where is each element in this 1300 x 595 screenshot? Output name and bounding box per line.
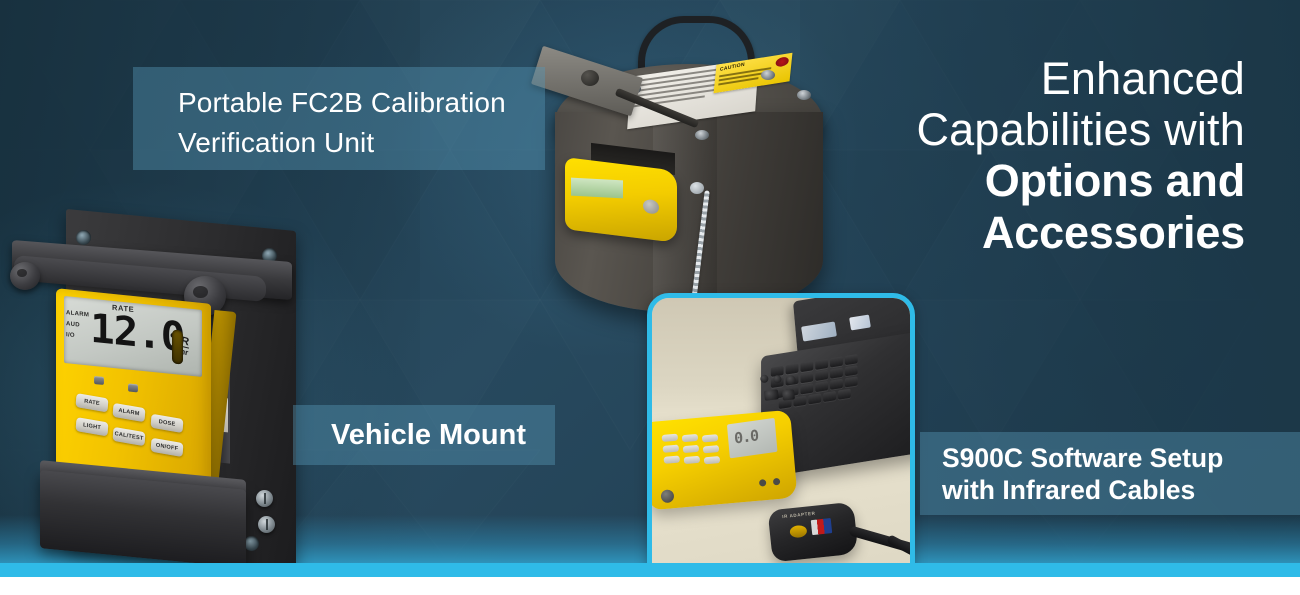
detector-button-dose[interactable]: DOSE <box>151 414 184 433</box>
handheld-detector-keypad <box>662 430 725 469</box>
bottom-white-bar <box>0 577 1300 595</box>
headline-line-4: Accessories <box>685 207 1245 259</box>
detector-led-right <box>128 383 138 392</box>
detector-side-button <box>660 489 674 503</box>
headline-line-2: Capabilities with <box>685 104 1245 155</box>
detector-led-left <box>94 376 104 385</box>
handheld-detector-reading: 0.0 <box>733 426 758 447</box>
headline-line-3: Options and <box>685 155 1245 207</box>
lcd-flag-io: I/O <box>66 330 75 342</box>
headline-line-1: Enhanced <box>685 53 1245 104</box>
caption-s900c: S900C Software Setup with Infrared Cable… <box>920 432 1300 515</box>
adapter-badge <box>789 525 807 539</box>
caption-fc2b-line2: Verification Unit <box>178 123 545 163</box>
banner-stage: RATE ALARM AUD I/O 12.0 µR hr RATE ALARM… <box>0 0 1300 595</box>
fc2b-adjustment-knob <box>581 70 599 86</box>
detector-button-onoff[interactable]: ON/OFF <box>151 438 184 457</box>
caption-vehicle-mount-line1: Vehicle Mount <box>331 417 555 453</box>
fc2b-yellow-dosimeter <box>565 157 677 243</box>
laptop-port-cluster <box>759 365 816 417</box>
detector-ir-port-a <box>759 479 767 487</box>
mount-bolt-lower <box>258 516 275 533</box>
handheld-detector: 0.0 <box>647 410 798 511</box>
mount-bolt-upper <box>256 490 273 507</box>
infrared-adapter-pod: IR ADAPTER <box>768 502 859 563</box>
caption-vehicle-mount: Vehicle Mount <box>293 405 555 465</box>
detector-side-slot <box>172 329 183 364</box>
bottom-accent-bar <box>0 563 1300 577</box>
detector-button-light[interactable]: LIGHT <box>76 417 109 436</box>
mount-hole-top-left <box>76 230 91 245</box>
adapter-logo <box>811 518 832 535</box>
detector-button-caltest[interactable]: CAL/TEST <box>113 427 146 446</box>
banner-headline: Enhanced Capabilities with Options and A… <box>685 53 1245 259</box>
detector-button-rate[interactable]: RATE <box>76 393 109 412</box>
handheld-detector-lcd: 0.0 <box>727 418 778 459</box>
s900c-software-setup-photo: 0.0 IR ADAPTER <box>647 293 915 588</box>
mount-hole-bottom-right <box>244 536 259 551</box>
caption-fc2b: Portable FC2B Calibration Verification U… <box>133 67 545 170</box>
clamp-knob-left <box>10 262 40 290</box>
dosimeter-button <box>643 199 659 215</box>
dosimeter-green-label <box>571 178 623 199</box>
caption-s900c-line1: S900C Software Setup <box>942 442 1300 474</box>
caption-s900c-line2: with Infrared Cables <box>942 474 1300 506</box>
detector-ir-port-b <box>773 478 781 486</box>
vehicle-mount-photo: RATE ALARM AUD I/O 12.0 µR hr RATE ALARM… <box>4 218 308 570</box>
caption-fc2b-line1: Portable FC2B Calibration <box>178 83 545 123</box>
adapter-print: IR ADAPTER <box>782 511 816 519</box>
lcd-reading-value: 12.0 <box>90 309 184 359</box>
detector-button-alarm[interactable]: ALARM <box>113 403 146 422</box>
